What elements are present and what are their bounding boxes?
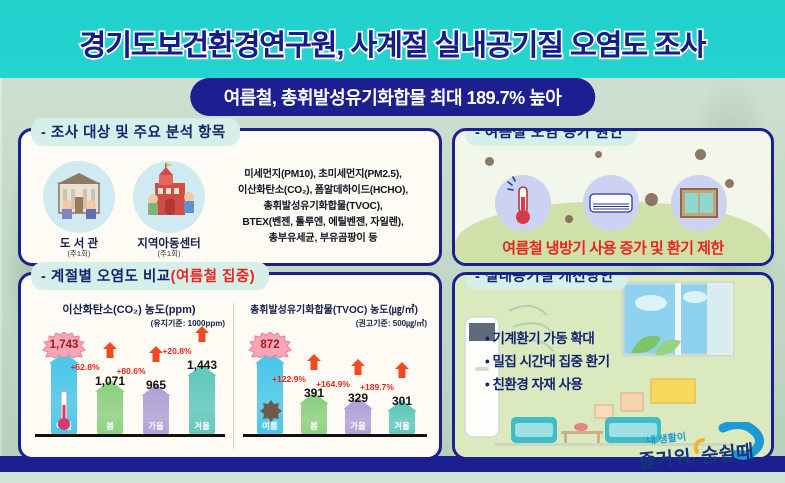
library-icon — [43, 161, 115, 233]
mold-dot — [595, 151, 602, 158]
bar-category-label: 봄 — [301, 420, 327, 432]
bar-percent-label: +62.8% — [59, 362, 111, 372]
bar-percent-label: +189.7% — [351, 382, 403, 392]
increase-arrow-icon — [307, 354, 321, 370]
analysis-item: 총휘발성유기화합물(TVOC), — [213, 199, 433, 215]
campaign-logo: 내 생활이 즐거워, 숨쉴때 — [631, 422, 781, 478]
mold-dot — [565, 215, 573, 223]
bar-category-label: 겨울 — [189, 420, 215, 432]
window-icon — [671, 175, 727, 231]
chart-panel: - 계절별 오염도 비교(여름철 집중) 이산화탄소(CO₂) 농도(ppm) … — [18, 272, 442, 460]
improve-item: • 친환경 자재 사용 — [485, 373, 610, 396]
highlight-value-badge: 872 — [248, 332, 292, 358]
bar-value-label: 301 — [373, 394, 431, 408]
survey-section-label: - 조사 대상 및 주요 분석 항목 — [31, 118, 240, 146]
chart-section-label-highlight: (여름철 집중) — [171, 269, 255, 285]
bar-value-label: 1,443 — [173, 358, 231, 372]
bar-body: 가을 — [345, 406, 371, 434]
co2-chart-title: 이산화탄소(CO₂) 농도(ppm) — [29, 301, 229, 317]
mold-dot — [645, 193, 658, 206]
bar-body: 가을 — [143, 393, 169, 434]
svg-text:내 생활이: 내 생활이 — [646, 430, 687, 447]
co2-chart: 이산화탄소(CO₂) 농도(ppm) (유지기준: 1000ppm) 여름1,7… — [29, 301, 229, 451]
cause-caption: 여름철 냉방기 사용 증가 및 환기 제한 — [455, 237, 771, 258]
bar-category-label: 봄 — [97, 420, 123, 432]
bar-body: 겨울 — [389, 409, 415, 434]
bar-봄: 봄 — [301, 401, 327, 434]
cause-panel: - 여름철 오염 증가 원인 여름철 냉방기 사용 증가 및 환기 제한 — [452, 128, 774, 266]
increase-arrow-icon — [395, 362, 409, 378]
analysis-item: 총부유세균, 부유곰팡이 등 — [213, 231, 433, 247]
chart-section-label-main: - 계절별 오염도 비교 — [41, 269, 171, 285]
analysis-item: 이산화탄소(CO₂), 폼알데하이드(HCHO), — [213, 183, 433, 199]
bar-body: 봄 — [301, 401, 327, 434]
improve-item: • 밀집 시간대 집중 환기 — [485, 350, 610, 373]
bar-percent-label: +20.8% — [151, 346, 203, 356]
bar-겨울: 겨울 — [189, 373, 215, 434]
co2-axis — [35, 434, 225, 437]
tvoc-chart: 총휘발성유기화합물(TVOC) 농도(㎍/㎥) (권고기준: 500㎍/㎥) 여… — [237, 301, 431, 451]
bar-value-label: 965 — [127, 378, 185, 392]
bar-body: 겨울 — [189, 373, 215, 434]
community-center-frequency: (주1회) — [119, 248, 219, 259]
cause-section-label: - 여름철 오염 증가 원인 — [465, 128, 637, 146]
chart-section-label: - 계절별 오염도 비교(여름철 집중) — [31, 262, 269, 290]
increase-arrow-icon — [351, 359, 365, 375]
highlight-value-badge: 1,743 — [42, 332, 86, 358]
bar-category-label: 가을 — [143, 420, 169, 432]
analysis-items-list: 미세먼지(PM10), 초미세먼지(PM2.5), 이산화탄소(CO₂), 폼알… — [213, 167, 433, 247]
chart-divider — [233, 303, 234, 449]
library-frequency: (주1회) — [29, 248, 129, 259]
bar-가을: 가을 — [143, 393, 169, 434]
tvoc-standard-note: (권고기준: 500㎍/㎥) — [356, 318, 427, 329]
survey-panel: - 조사 대상 및 주요 분석 항목 도 서 관 (주1회) — [18, 128, 442, 266]
header-banner: 경기도보건환경연구원, 사계절 실내공기질 오염도 조사 경기도보건환경연구원,… — [0, 0, 785, 78]
page-title: 경기도보건환경연구원, 사계절 실내공기질 오염도 조사 — [0, 22, 785, 64]
bar-봄: 봄 — [97, 389, 123, 434]
thermometer-decoration-icon — [55, 389, 73, 433]
tvoc-axis — [243, 434, 427, 437]
analysis-item: 미세먼지(PM10), 초미세먼지(PM2.5), — [213, 167, 433, 183]
mold-dot — [485, 157, 494, 166]
bar-category-label: 겨울 — [389, 420, 415, 432]
mold-spore-icon — [259, 399, 283, 423]
analysis-item: BTEX(벤젠, 톨루엔, 에틸벤젠, 자일렌), — [213, 215, 433, 231]
mold-dot — [695, 149, 706, 160]
bar-겨울: 겨울 — [389, 409, 415, 434]
improve-section-label: - 실내공기질 개선방안 — [465, 272, 628, 290]
improve-item: • 기계환기 가동 확대 — [485, 327, 610, 350]
bar-가을: 가을 — [345, 406, 371, 434]
bar-category-label: 가을 — [345, 420, 371, 432]
bar-body: 봄 — [97, 389, 123, 434]
co2-standard-note: (유지기준: 1000ppm) — [151, 318, 225, 329]
thermometer-icon — [495, 175, 551, 231]
increase-arrow-icon — [195, 326, 209, 342]
air-conditioner-icon — [583, 175, 639, 231]
community-center-icon — [133, 161, 205, 233]
subtitle-pill: 여름철, 총휘발성유기화합물 최대 189.7% 높아 — [190, 78, 596, 116]
bar-percent-label: +80.6% — [105, 366, 157, 376]
tvoc-chart-title: 총휘발성유기화합물(TVOC) 농도(㎍/㎥) — [237, 301, 431, 316]
improve-list: • 기계환기 가동 확대 • 밀집 시간대 집중 환기 • 친환경 자재 사용 — [485, 327, 610, 396]
increase-arrow-icon — [103, 342, 117, 358]
